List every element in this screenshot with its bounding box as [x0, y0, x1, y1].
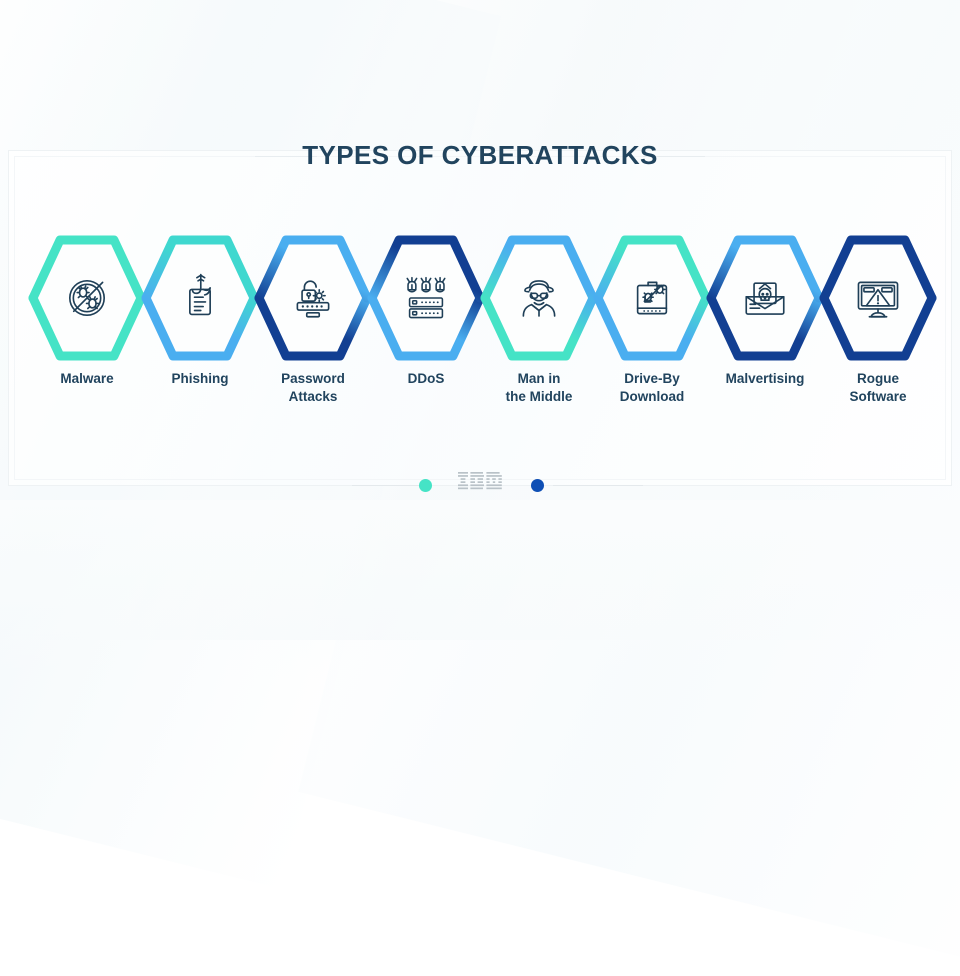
man-in-the-middle-spy-icon — [479, 230, 599, 366]
dot-previous[interactable] — [419, 479, 432, 492]
cyberattack-hexagon-8[interactable] — [818, 230, 938, 366]
pagination-line-left — [352, 485, 424, 486]
ibm-logo — [458, 472, 504, 491]
pagination-line-right — [553, 485, 643, 486]
background-sheen-bottom — [0, 500, 960, 680]
slide-canvas: TYPES OF CYBERATTACKS — [0, 0, 960, 640]
hexagon-label-line: Rogue — [793, 370, 960, 388]
cyberattack-hexagon-3[interactable] — [253, 230, 373, 366]
malvertising-envelope-skull-icon — [705, 230, 825, 366]
password-padlock-icon — [253, 230, 373, 366]
dot-next[interactable] — [531, 479, 544, 492]
hexagon-label-line: Software — [793, 388, 960, 406]
drive-by-download-device-icon — [592, 230, 712, 366]
hexagon-label-8: RogueSoftware — [793, 370, 960, 406]
cyberattack-hexagon-2[interactable] — [140, 230, 260, 366]
cyberattack-hexagon-row: Malware — [0, 230, 960, 410]
cyberattack-hexagon-4[interactable] — [366, 230, 486, 366]
rogue-software-monitor-warning-icon — [818, 230, 938, 366]
ddos-bombs-server-icon — [366, 230, 486, 366]
hexagon-label-line: Attacks — [228, 388, 398, 406]
page-title: TYPES OF CYBERATTACKS — [0, 140, 960, 171]
malware-bug-blocked-icon — [27, 230, 147, 366]
hexagon-label-line: Download — [567, 388, 737, 406]
cyberattack-hexagon-5[interactable] — [479, 230, 599, 366]
cyberattack-hexagon-1[interactable] — [27, 230, 147, 366]
cyberattack-hexagon-7[interactable] — [705, 230, 825, 366]
cyberattack-hexagon-6[interactable] — [592, 230, 712, 366]
phishing-hook-document-icon — [140, 230, 260, 366]
